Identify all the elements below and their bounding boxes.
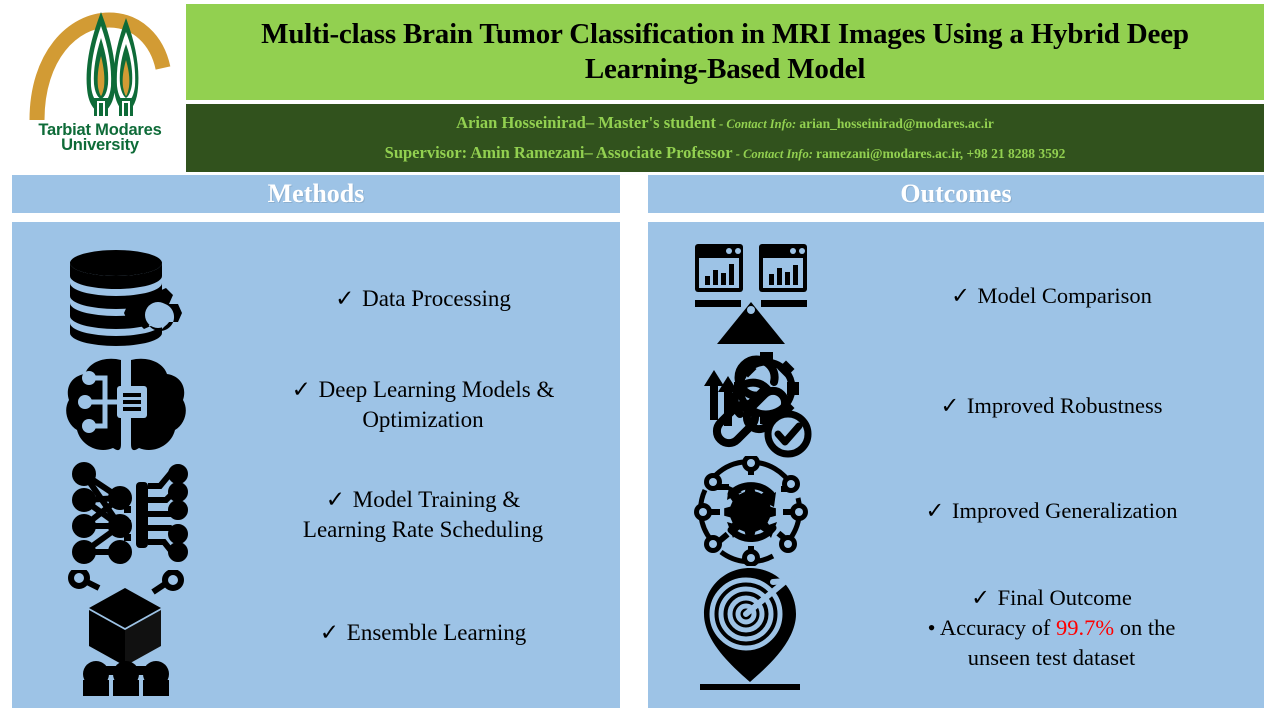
methods-panel: ✓ Data Processing xyxy=(12,222,620,708)
outcomes-label-2: ✓ Improved Robustness xyxy=(853,391,1264,421)
methods-item-data-processing[interactable]: ✓ Data Processing xyxy=(12,244,620,354)
methods-text-3a: Model Training & xyxy=(353,487,520,512)
author-line-student: Arian Hosseinirad– Master's student - Co… xyxy=(456,114,994,133)
cube-hierarchy-icon xyxy=(12,570,240,696)
author-line-supervisor: Supervisor: Amin Ramezani– Associate Pro… xyxy=(385,144,1066,163)
university-logo: Tarbiat Modares University xyxy=(14,4,186,174)
authors-banner: Arian Hosseinirad– Master's student - Co… xyxy=(186,104,1264,172)
database-gear-icon xyxy=(12,247,240,351)
methods-label-1: ✓ Data Processing xyxy=(240,284,620,314)
accuracy-line-2: unseen test dataset xyxy=(853,643,1250,673)
supervisor-name: Supervisor: Amin Ramezani– Associate Pro… xyxy=(385,143,733,162)
supervisor-separator: - xyxy=(733,147,743,161)
accuracy-value: 99.7% xyxy=(1056,615,1114,640)
outcomes-text-3: Improved Generalization xyxy=(952,498,1178,523)
author-contact-label: Contact Info: xyxy=(726,117,799,131)
author-separator: - xyxy=(716,117,726,131)
methods-label-2: ✓ Deep Learning Models & Optimization xyxy=(240,375,620,435)
chart-balance-scale-icon xyxy=(648,240,853,352)
check-icon: ✓ xyxy=(320,620,341,645)
outcomes-item-final-outcome[interactable]: ✓ Final Outcome • Accuracy of 99.7% on t… xyxy=(648,558,1264,698)
bullet-icon: • xyxy=(928,615,936,640)
methods-text-2b: Optimization xyxy=(362,407,483,432)
brain-circuit-icon xyxy=(12,354,240,456)
gear-network-cycle-icon xyxy=(648,456,853,566)
outcomes-text-1: Model Comparison xyxy=(978,283,1152,308)
methods-label-4: ✓ Ensemble Learning xyxy=(240,618,620,648)
page-title: Multi-class Brain Tumor Classification i… xyxy=(186,17,1264,87)
check-icon: ✓ xyxy=(326,487,347,512)
accuracy-prefix: Accuracy of xyxy=(940,615,1056,640)
check-icon: ✓ xyxy=(971,585,992,610)
outcomes-text-2: Improved Robustness xyxy=(967,393,1163,418)
methods-text-3b: Learning Rate Scheduling xyxy=(303,517,543,542)
section-header-methods: Methods xyxy=(12,175,620,213)
neural-network-chip-icon xyxy=(12,460,240,570)
tarbiat-modares-university-logo-icon xyxy=(25,4,175,124)
check-icon: ✓ xyxy=(951,283,972,308)
section-header-outcomes: Outcomes xyxy=(648,175,1264,213)
check-icon: ✓ xyxy=(335,286,356,311)
check-icon: ✓ xyxy=(292,377,313,402)
title-banner: Multi-class Brain Tumor Classification i… xyxy=(186,4,1264,100)
outcomes-bullet-4: • Accuracy of 99.7% on the xyxy=(853,613,1250,643)
methods-text-2a: Deep Learning Models & xyxy=(319,377,555,402)
supervisor-contact-value[interactable]: ramezani@modares.ac.ir, +98 21 8288 3592 xyxy=(816,146,1065,161)
logo-line-2: University xyxy=(61,137,139,154)
methods-item-deep-learning[interactable]: ✓ Deep Learning Models & Optimization xyxy=(12,350,620,460)
methods-heading: Methods xyxy=(268,180,365,208)
chain-gear-check-icon xyxy=(648,352,853,460)
check-icon: ✓ xyxy=(940,393,961,418)
methods-label-3: ✓ Model Training & Learning Rate Schedul… xyxy=(240,485,620,545)
outcomes-item-robustness[interactable]: ✓ Improved Robustness xyxy=(648,350,1264,462)
outcomes-label-4: ✓ Final Outcome • Accuracy of 99.7% on t… xyxy=(853,583,1264,673)
outcomes-text-4: Final Outcome xyxy=(998,585,1132,610)
check-icon: ✓ xyxy=(925,498,946,523)
author-contact-value[interactable]: arian_hosseinirad@modares.ac.ir xyxy=(799,116,994,131)
author-name: Arian Hosseinirad– Master's student xyxy=(456,113,716,132)
methods-item-model-training[interactable]: ✓ Model Training & Learning Rate Schedul… xyxy=(12,458,620,572)
poster-canvas: Tarbiat Modares University Multi-class B… xyxy=(0,0,1280,720)
supervisor-contact-label: Contact Info: xyxy=(743,147,816,161)
methods-text-1: Data Processing xyxy=(362,286,511,311)
outcomes-panel: ✓ Model Comparison xyxy=(648,222,1264,708)
outcomes-label-1: ✓ Model Comparison xyxy=(853,281,1264,311)
outcomes-label-3: ✓ Improved Generalization xyxy=(853,496,1264,526)
outcomes-item-generalization[interactable]: ✓ Improved Generalization xyxy=(648,456,1264,566)
outcomes-item-model-comparison[interactable]: ✓ Model Comparison xyxy=(648,236,1264,356)
methods-item-ensemble[interactable]: ✓ Ensemble Learning xyxy=(12,570,620,696)
methods-text-4: Ensemble Learning xyxy=(347,620,526,645)
accuracy-suffix: on the xyxy=(1114,615,1175,640)
outcomes-heading: Outcomes xyxy=(900,180,1011,208)
target-pin-arrow-icon xyxy=(648,564,853,692)
